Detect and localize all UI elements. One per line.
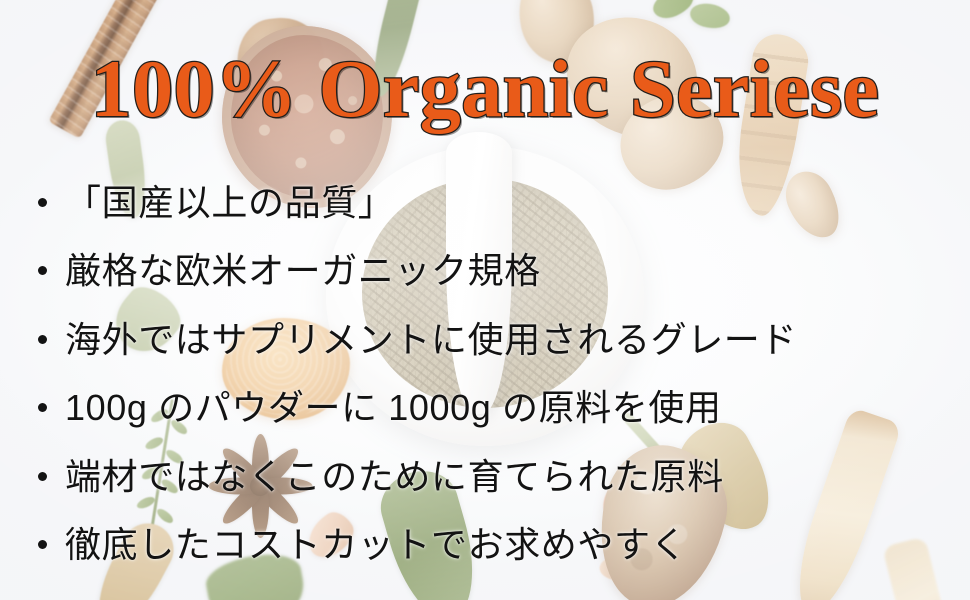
bullet-label: 「国産以上の品質」: [65, 182, 394, 223]
organic-series-banner: 100% Organic Seriese 「国産以上の品質」 厳格な欧米オーガニ…: [0, 0, 970, 600]
bullet-dot-icon: [38, 198, 47, 207]
banner-content: 100% Organic Seriese 「国産以上の品質」 厳格な欧米オーガニ…: [0, 0, 970, 600]
bullet-label: 徹底したコストカットでお求めやすく: [65, 524, 687, 565]
list-item: 海外ではサプリメントに使用されるグレード: [38, 305, 938, 374]
bullet-dot-icon: [38, 266, 47, 275]
list-item: 端材ではなくこのために育てられた原料: [38, 442, 938, 511]
bullet-dot-icon: [38, 472, 47, 481]
list-item: 厳格な欧米オーガニック規格: [38, 237, 938, 306]
bullet-label: 端材ではなくこのために育てられた原料: [65, 456, 724, 497]
list-item: 「国産以上の品質」: [38, 168, 938, 237]
bullet-label: 厳格な欧米オーガニック規格: [65, 250, 541, 291]
feature-bullet-list: 「国産以上の品質」 厳格な欧米オーガニック規格 海外ではサプリメントに使用される…: [38, 168, 938, 579]
bullet-dot-icon: [38, 335, 47, 344]
bullet-dot-icon: [38, 540, 47, 549]
list-item: 徹底したコストカットでお求めやすく: [38, 511, 938, 580]
list-item: 100g のパウダーに 1000g の原料を使用: [38, 374, 938, 443]
bullet-dot-icon: [38, 403, 47, 412]
bullet-label: 100g のパウダーに 1000g の原料を使用: [65, 387, 722, 428]
bullet-label: 海外ではサプリメントに使用されるグレード: [65, 319, 797, 360]
page-title: 100% Organic Seriese: [0, 48, 970, 130]
